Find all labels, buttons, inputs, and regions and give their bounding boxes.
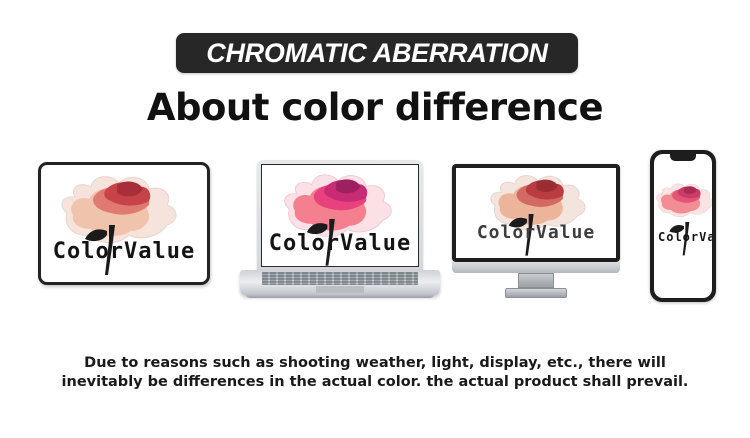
- page-subtitle: About color difference: [0, 86, 750, 129]
- monitor-screen: ColorValue: [456, 168, 616, 258]
- phone-notch: [670, 154, 696, 161]
- laptop-screen-label: ColorValue: [262, 231, 418, 256]
- device-showcase: ColorValue ColorValue: [0, 150, 750, 315]
- tablet-screen-label: ColorValue: [43, 239, 205, 264]
- laptop-screen: ColorValue: [261, 164, 419, 267]
- device-tablet: ColorValue: [38, 162, 210, 285]
- monitor-chin: [452, 262, 620, 273]
- device-phone: ColorVal: [650, 150, 716, 302]
- laptop-lid: ColorValue: [257, 160, 423, 272]
- monitor-stand-neck: [518, 273, 554, 288]
- tablet-screen: ColorValue: [43, 167, 205, 280]
- device-laptop: ColorValue: [240, 160, 440, 300]
- monitor-screen-label: ColorValue: [456, 222, 616, 243]
- laptop-foot: [246, 294, 434, 298]
- device-monitor: ColorValue: [452, 164, 620, 304]
- phone-screen-label: ColorVal: [654, 230, 712, 244]
- banner-title: CHROMATIC ABERRATION: [206, 38, 547, 69]
- disclaimer-line-1: Due to reasons such as shooting weather,…: [0, 354, 750, 373]
- monitor-stand-base: [505, 288, 567, 298]
- phone-screen: ColorVal: [654, 154, 712, 298]
- rose-illustration-icon: [654, 176, 712, 226]
- laptop-base: [240, 270, 440, 296]
- monitor-bezel: ColorValue: [452, 164, 620, 262]
- color-difference-disclaimer: Due to reasons such as shooting weather,…: [0, 354, 750, 392]
- disclaimer-line-2: inevitably be differences in the actual …: [0, 373, 750, 392]
- laptop-keyboard[interactable]: [262, 272, 418, 285]
- chromatic-aberration-banner: CHROMATIC ABERRATION: [176, 33, 578, 73]
- laptop-trackpad[interactable]: [316, 286, 364, 293]
